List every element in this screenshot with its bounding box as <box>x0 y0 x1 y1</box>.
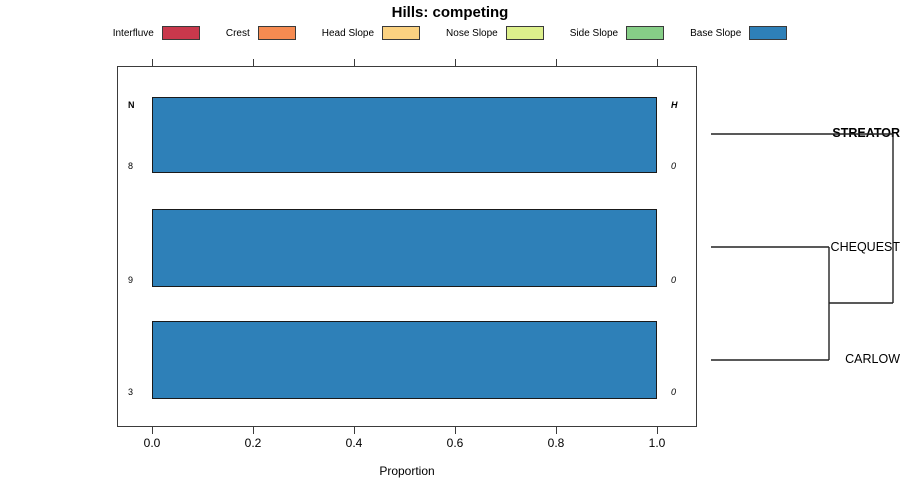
legend-swatch-base-slope <box>749 26 787 40</box>
legend-swatch-side-slope <box>626 26 664 40</box>
tick-top-5 <box>657 59 658 66</box>
legend-label: Head Slope <box>322 28 374 39</box>
annotation-h-value-streator: 0 <box>671 161 676 171</box>
annotation-h-header: H <box>671 100 678 110</box>
tick-top-1 <box>253 59 254 66</box>
tick-top-0 <box>152 59 153 66</box>
legend-swatch-nose-slope <box>506 26 544 40</box>
tick-top-4 <box>556 59 557 66</box>
legend-label: Crest <box>226 28 250 39</box>
legend-item-interfluve[interactable]: Interfluve <box>113 26 200 40</box>
legend-swatch-head-slope <box>382 26 420 40</box>
tick-bottom-2 <box>354 427 355 434</box>
dendrogram <box>700 60 900 440</box>
bar-carlow-base-slope[interactable] <box>152 321 657 399</box>
tick-top-3 <box>455 59 456 66</box>
tick-bottom-3 <box>455 427 456 434</box>
bar-streator-base-slope[interactable] <box>152 97 657 173</box>
legend-item-head-slope[interactable]: Head Slope <box>322 26 420 40</box>
dendrogram-svg <box>700 60 900 440</box>
legend-item-side-slope[interactable]: Side Slope <box>570 26 664 40</box>
tick-bottom-1 <box>253 427 254 434</box>
tick-top-2 <box>354 59 355 66</box>
xtick-label-0: 0.0 <box>132 436 172 450</box>
legend-swatch-interfluve <box>162 26 200 40</box>
xtick-label-1: 0.2 <box>233 436 273 450</box>
annotation-n-value-chequest: 9 <box>128 275 133 285</box>
legend-item-base-slope[interactable]: Base Slope <box>690 26 787 40</box>
annotation-n-value-streator: 8 <box>128 161 133 171</box>
xtick-label-2: 0.4 <box>334 436 374 450</box>
tick-bottom-0 <box>152 427 153 434</box>
page-title: Hills: competing <box>0 4 900 21</box>
xtick-label-3: 0.6 <box>435 436 475 450</box>
annotation-h-value-chequest: 0 <box>671 275 676 285</box>
xtick-label-4: 0.8 <box>536 436 576 450</box>
tick-bottom-5 <box>657 427 658 434</box>
annotation-n-value-carlow: 3 <box>128 387 133 397</box>
annotation-n-header: N <box>128 100 135 110</box>
xtick-label-5: 1.0 <box>637 436 677 450</box>
legend: Interfluve Crest Head Slope Nose Slope S… <box>0 26 900 40</box>
annotation-h-value-carlow: 0 <box>671 387 676 397</box>
bar-chequest-base-slope[interactable] <box>152 209 657 287</box>
legend-label: Interfluve <box>113 28 154 39</box>
legend-item-nose-slope[interactable]: Nose Slope <box>446 26 544 40</box>
legend-label: Nose Slope <box>446 28 498 39</box>
legend-label: Base Slope <box>690 28 741 39</box>
legend-swatch-crest <box>258 26 296 40</box>
x-axis-label: Proportion <box>117 464 697 478</box>
tick-bottom-4 <box>556 427 557 434</box>
legend-label: Side Slope <box>570 28 618 39</box>
legend-item-crest[interactable]: Crest <box>226 26 296 40</box>
